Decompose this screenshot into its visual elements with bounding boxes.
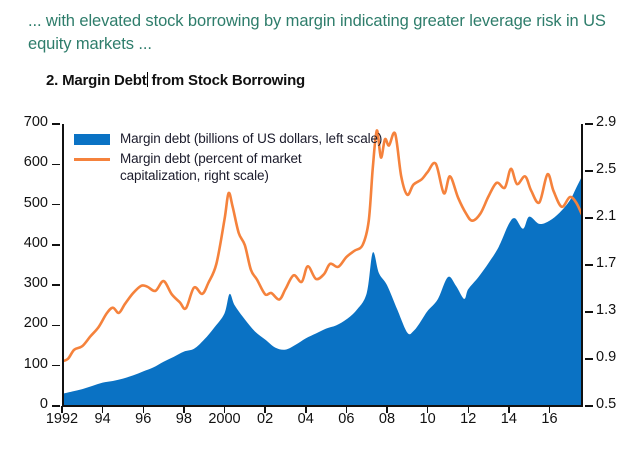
y-axis-left-label-0: 0 — [0, 396, 48, 412]
y-axis-right-label-2-9: 2.9 — [596, 114, 616, 130]
x-axis-label-2002: 02 — [257, 411, 273, 427]
y-tick-right-0-9 — [585, 358, 593, 360]
y-tick-left-700 — [52, 123, 60, 125]
x-axis-label-1994: 94 — [95, 411, 111, 427]
blue-area-swatch-icon — [74, 134, 110, 145]
x-axis-label-2012: 12 — [460, 411, 476, 427]
x-axis-label-2004: 04 — [298, 411, 314, 427]
y-axis-right-label-0-5: 0.5 — [596, 396, 616, 412]
orange-line-swatch-icon — [74, 158, 110, 162]
x-axis-label-2008: 08 — [379, 411, 395, 427]
margin-debt-area-series — [62, 176, 582, 406]
chart-title-part-1: 2. Margin Debt — [46, 72, 147, 89]
x-axis-label-1996: 96 — [135, 411, 151, 427]
chart-title: 2. Margin Debt from Stock Borrowing — [46, 72, 305, 89]
y-tick-left-600 — [52, 164, 60, 166]
legend-item-margin-debt-billions: Margin debt (billions of US dollars, lef… — [74, 131, 382, 148]
x-axis-label-2016: 16 — [541, 411, 557, 427]
y-axis-left-label-400: 400 — [0, 235, 48, 251]
y-tick-left-300 — [52, 284, 60, 286]
y-axis-right-line — [581, 124, 583, 406]
y-axis-right-label-1-3: 1.3 — [596, 302, 616, 318]
y-axis-left-line — [62, 124, 64, 406]
y-axis-right-label-0-9: 0.9 — [596, 349, 616, 365]
y-tick-right-2-5 — [585, 170, 593, 172]
y-axis-left-label-700: 700 — [0, 114, 48, 130]
y-tick-right-0-5 — [585, 405, 593, 407]
x-axis-line — [62, 405, 583, 407]
legend-label-0: Margin debt (billions of US dollars, lef… — [120, 131, 382, 148]
y-axis-right-label-1-7: 1.7 — [596, 255, 616, 271]
y-tick-right-1-7 — [585, 264, 593, 266]
legend-swatch-box-wrap — [74, 131, 120, 148]
y-axis-left-label-200: 200 — [0, 315, 48, 331]
y-tick-left-0 — [52, 405, 60, 407]
y-tick-left-100 — [52, 365, 60, 367]
chart-page: ... with elevated stock borrowing by mar… — [0, 0, 640, 449]
legend-item-margin-debt-percent: Margin debt (percent of market capitaliz… — [74, 151, 382, 184]
x-axis-label-2010: 10 — [420, 411, 436, 427]
chart-legend: Margin debt (billions of US dollars, lef… — [74, 131, 382, 187]
x-axis-label-2006: 06 — [338, 411, 354, 427]
y-tick-left-500 — [52, 204, 60, 206]
y-tick-right-2-1 — [585, 217, 593, 219]
chart-title-part-2: from Stock Borrowing — [148, 72, 305, 89]
legend-label-1: Margin debt (percent of market capitaliz… — [120, 151, 302, 184]
y-axis-left-label-300: 300 — [0, 275, 48, 291]
y-tick-left-400 — [52, 244, 60, 246]
lead-paragraph: ... with elevated stock borrowing by mar… — [28, 10, 628, 56]
legend-swatch-line-wrap — [74, 151, 120, 168]
y-axis-right-label-2-5: 2.5 — [596, 161, 616, 177]
y-tick-left-200 — [52, 325, 60, 327]
y-axis-right-label-2-1: 2.1 — [596, 208, 616, 224]
y-tick-right-1-3 — [585, 311, 593, 313]
x-axis-label-1992: 1992 — [46, 411, 78, 427]
y-axis-left-label-600: 600 — [0, 154, 48, 170]
x-axis-label-2014: 14 — [501, 411, 517, 427]
x-axis-label-1998: 98 — [176, 411, 192, 427]
y-tick-right-2-9 — [585, 123, 593, 125]
y-axis-left-label-500: 500 — [0, 195, 48, 211]
x-axis-label-2000: 2000 — [208, 411, 240, 427]
y-axis-left-label-100: 100 — [0, 356, 48, 372]
